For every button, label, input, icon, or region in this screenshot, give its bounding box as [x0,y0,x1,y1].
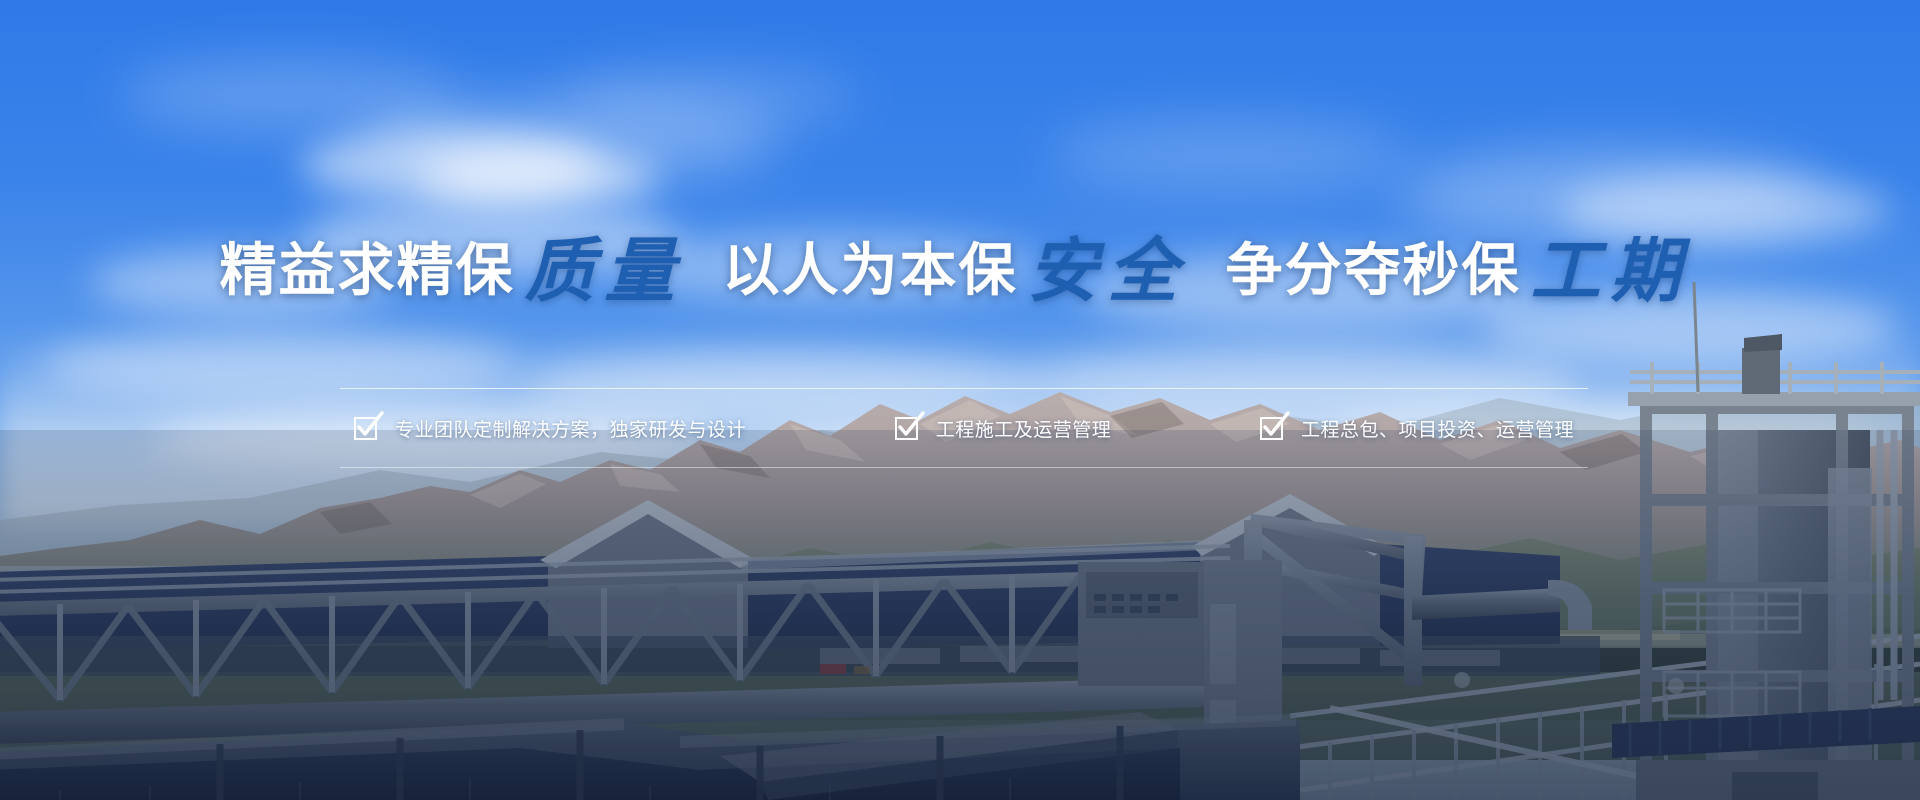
feature-label: 工程总包、项目投资、运营管理 [1301,415,1574,442]
checkbox-check-icon [895,417,918,440]
headline: 精益求精保质量以人为本保安全争分夺秒保工期 [220,236,1701,306]
feature-item-2[interactable]: 工程施工及运营管理 [895,415,1112,442]
feature-label: 工程施工及运营管理 [936,415,1112,442]
feature-item-1[interactable]: 专业团队定制解决方案，独家研发与设计 [354,415,746,442]
headline-plain-3: 争分夺秒保 [1226,239,1521,303]
divider-bottom [340,467,1588,468]
headline-plain-1: 精益求精保 [220,239,515,303]
headline-script-2: 安全 [1018,229,1198,312]
hero-text-block: 精益求精保质量以人为本保安全争分夺秒保工期 [0,236,1920,306]
feature-strip: 专业团队定制解决方案，独家研发与设计 工程施工及运营管理 [340,388,1588,468]
checkbox-check-icon [354,417,377,440]
headline-script-3: 工期 [1521,229,1701,312]
feature-label: 专业团队定制解决方案，独家研发与设计 [395,415,746,442]
checkbox-check-icon [1260,417,1283,440]
headline-plain-2: 以人为本保 [723,239,1018,303]
feature-item-3[interactable]: 工程总包、项目投资、运营管理 [1260,415,1574,442]
feature-list: 专业团队定制解决方案，独家研发与设计 工程施工及运营管理 [340,389,1588,467]
headline-script-1: 质量 [515,229,695,312]
hero-banner: 精益求精保质量以人为本保安全争分夺秒保工期 专业团队定制解决方案，独家研发与设计 [0,0,1920,800]
